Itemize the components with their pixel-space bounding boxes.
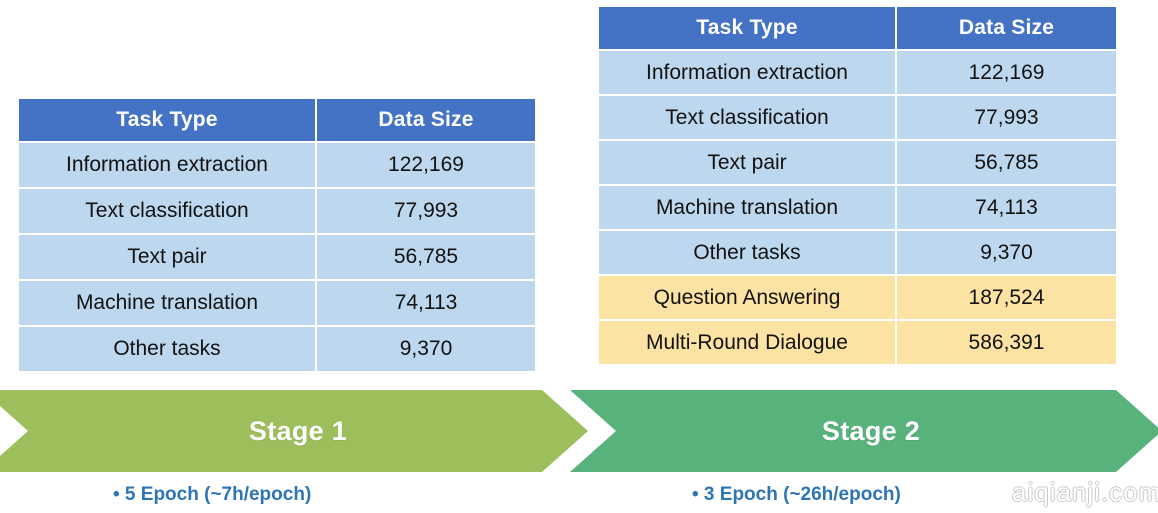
stage2-dataset-table: Task Type Data Size Information extracti… — [599, 7, 1116, 364]
cell-data-size: 9,370 — [897, 231, 1116, 276]
cell-task-type: Multi-Round Dialogue — [599, 321, 897, 364]
table-row: Text classification 77,993 — [599, 96, 1116, 141]
cell-task-type: Machine translation — [19, 281, 317, 327]
table-header: Task Type Data Size — [19, 99, 535, 143]
cell-task-type: Other tasks — [599, 231, 897, 276]
cell-data-size: 77,993 — [897, 96, 1116, 141]
stage-1-chevron-banner: Stage 1 — [0, 390, 588, 472]
table-header-row: Task Type Data Size — [19, 99, 535, 143]
cell-data-size: 586,391 — [897, 321, 1116, 364]
table-row: Text pair 56,785 — [599, 141, 1116, 186]
cell-data-size: 122,169 — [317, 143, 535, 189]
cell-task-type: Text pair — [599, 141, 897, 186]
stage-2-label: Stage 2 — [812, 416, 920, 447]
column-header-task-type: Task Type — [19, 99, 317, 143]
cell-data-size: 74,113 — [897, 186, 1116, 231]
column-header-data-size: Data Size — [897, 7, 1116, 51]
table-header-row: Task Type Data Size — [599, 7, 1116, 51]
cell-task-type: Text classification — [599, 96, 897, 141]
table-row: Information extraction 122,169 — [19, 143, 535, 189]
cell-task-type: Question Answering — [599, 276, 897, 321]
table-row: Other tasks 9,370 — [599, 231, 1116, 276]
stage-1-label: Stage 1 — [223, 416, 347, 447]
stage1-dataset-table: Task Type Data Size Information extracti… — [19, 99, 535, 371]
cell-task-type: Information extraction — [19, 143, 317, 189]
table-row: Other tasks 9,370 — [19, 327, 535, 371]
table-body: Information extraction 122,169 Text clas… — [599, 51, 1116, 364]
cell-task-type: Text classification — [19, 189, 317, 235]
table-header: Task Type Data Size — [599, 7, 1116, 51]
table-row: Information extraction 122,169 — [599, 51, 1116, 96]
table-row-highlighted: Question Answering 187,524 — [599, 276, 1116, 321]
table-row: Text pair 56,785 — [19, 235, 535, 281]
cell-task-type: Other tasks — [19, 327, 317, 371]
table-row: Text classification 77,993 — [19, 189, 535, 235]
column-header-data-size: Data Size — [317, 99, 535, 143]
cell-data-size: 187,524 — [897, 276, 1116, 321]
column-header-task-type: Task Type — [599, 7, 897, 51]
table-row: Machine translation 74,113 — [19, 281, 535, 327]
cell-data-size: 56,785 — [897, 141, 1116, 186]
cell-task-type: Text pair — [19, 235, 317, 281]
table-row: Machine translation 74,113 — [599, 186, 1116, 231]
stage-1-epoch-caption: • 5 Epoch (~7h/epoch) — [113, 484, 311, 506]
table-body: Information extraction 122,169 Text clas… — [19, 143, 535, 371]
cell-data-size: 122,169 — [897, 51, 1116, 96]
cell-data-size: 56,785 — [317, 235, 535, 281]
cell-task-type: Machine translation — [599, 186, 897, 231]
stage-2-epoch-caption: • 3 Epoch (~26h/epoch) — [692, 484, 901, 506]
cell-data-size: 9,370 — [317, 327, 535, 371]
cell-task-type: Information extraction — [599, 51, 897, 96]
cell-data-size: 77,993 — [317, 189, 535, 235]
table-row-highlighted: Multi-Round Dialogue 586,391 — [599, 321, 1116, 364]
watermark: aiqianji.com — [1012, 477, 1158, 508]
cell-data-size: 74,113 — [317, 281, 535, 327]
stage-2-chevron-banner: Stage 2 — [570, 390, 1158, 472]
